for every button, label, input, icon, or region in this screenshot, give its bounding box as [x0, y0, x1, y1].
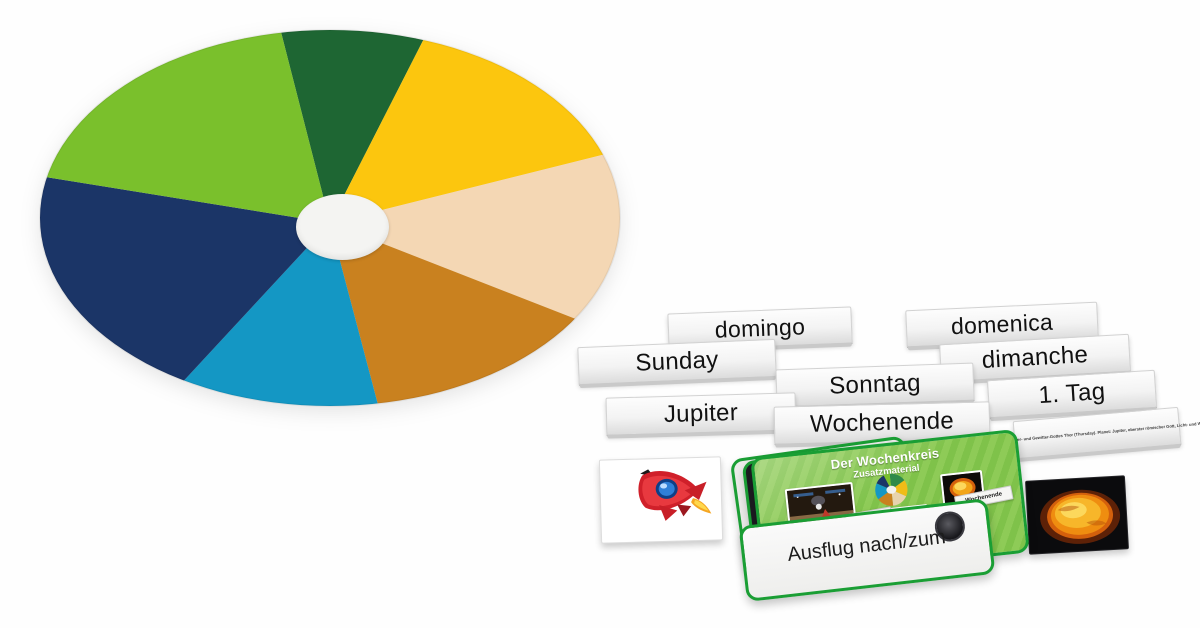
word-label-text: dimanche — [981, 341, 1089, 375]
word-label-text: domenica — [950, 309, 1053, 341]
word-label-text: 1. Tag — [1038, 378, 1106, 410]
word-label-text: Sunday — [635, 346, 719, 377]
word-label-text: Sonntag — [829, 369, 921, 400]
sun-icon — [1026, 476, 1128, 553]
word-label-text: Wochenende — [810, 407, 955, 439]
word-label-sunday[interactable]: Sunday — [577, 339, 776, 385]
color-wheel[interactable] — [30, 18, 630, 418]
word-label-sonntag[interactable]: Sonntag — [775, 363, 974, 408]
scene-background: domingo domenica Sunday dimanche Sonntag… — [0, 0, 1200, 628]
wheel-hub — [296, 194, 389, 260]
rocket-picture-card[interactable] — [599, 456, 723, 543]
rocket-icon — [614, 464, 712, 537]
word-label-text: Jupiter — [664, 399, 739, 429]
sun-picture-card[interactable] — [1025, 475, 1129, 554]
mini-wheel-diagram — [864, 469, 920, 510]
word-label-jupiter[interactable]: Jupiter — [606, 392, 797, 435]
ausflug-card-text: Ausflug nach/zum — [744, 521, 989, 571]
